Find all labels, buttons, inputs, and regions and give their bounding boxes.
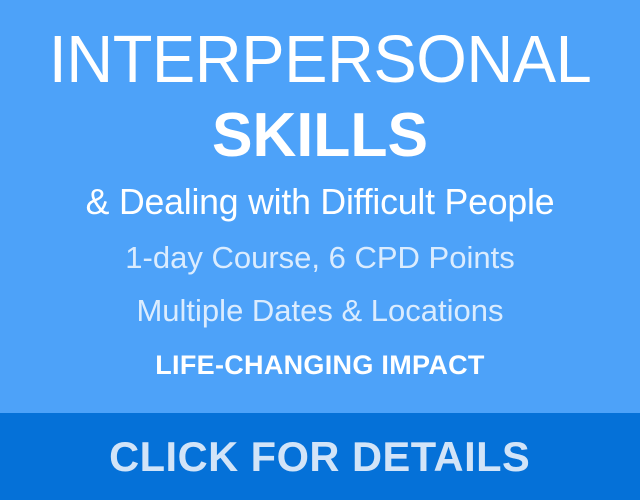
headline-primary: INTERPERSONAL: [10, 26, 631, 93]
cta-label[interactable]: CLICK FOR DETAILS: [109, 433, 530, 481]
headline-secondary: SKILLS: [6, 105, 633, 167]
advertisement-banner[interactable]: INTERPERSONAL SKILLS & Dealing with Diff…: [0, 0, 640, 500]
tagline: LIFE-CHANGING IMPACT: [0, 350, 640, 381]
detail-line-course-info: 1-day Course, 6 CPD Points: [0, 242, 640, 273]
subheadline: & Dealing with Difficult People: [3, 181, 637, 223]
detail-line-dates-locations: Multiple Dates & Locations: [0, 295, 640, 326]
cta-bar[interactable]: CLICK FOR DETAILS: [0, 413, 640, 500]
promo-panel: INTERPERSONAL SKILLS & Dealing with Diff…: [0, 0, 640, 413]
